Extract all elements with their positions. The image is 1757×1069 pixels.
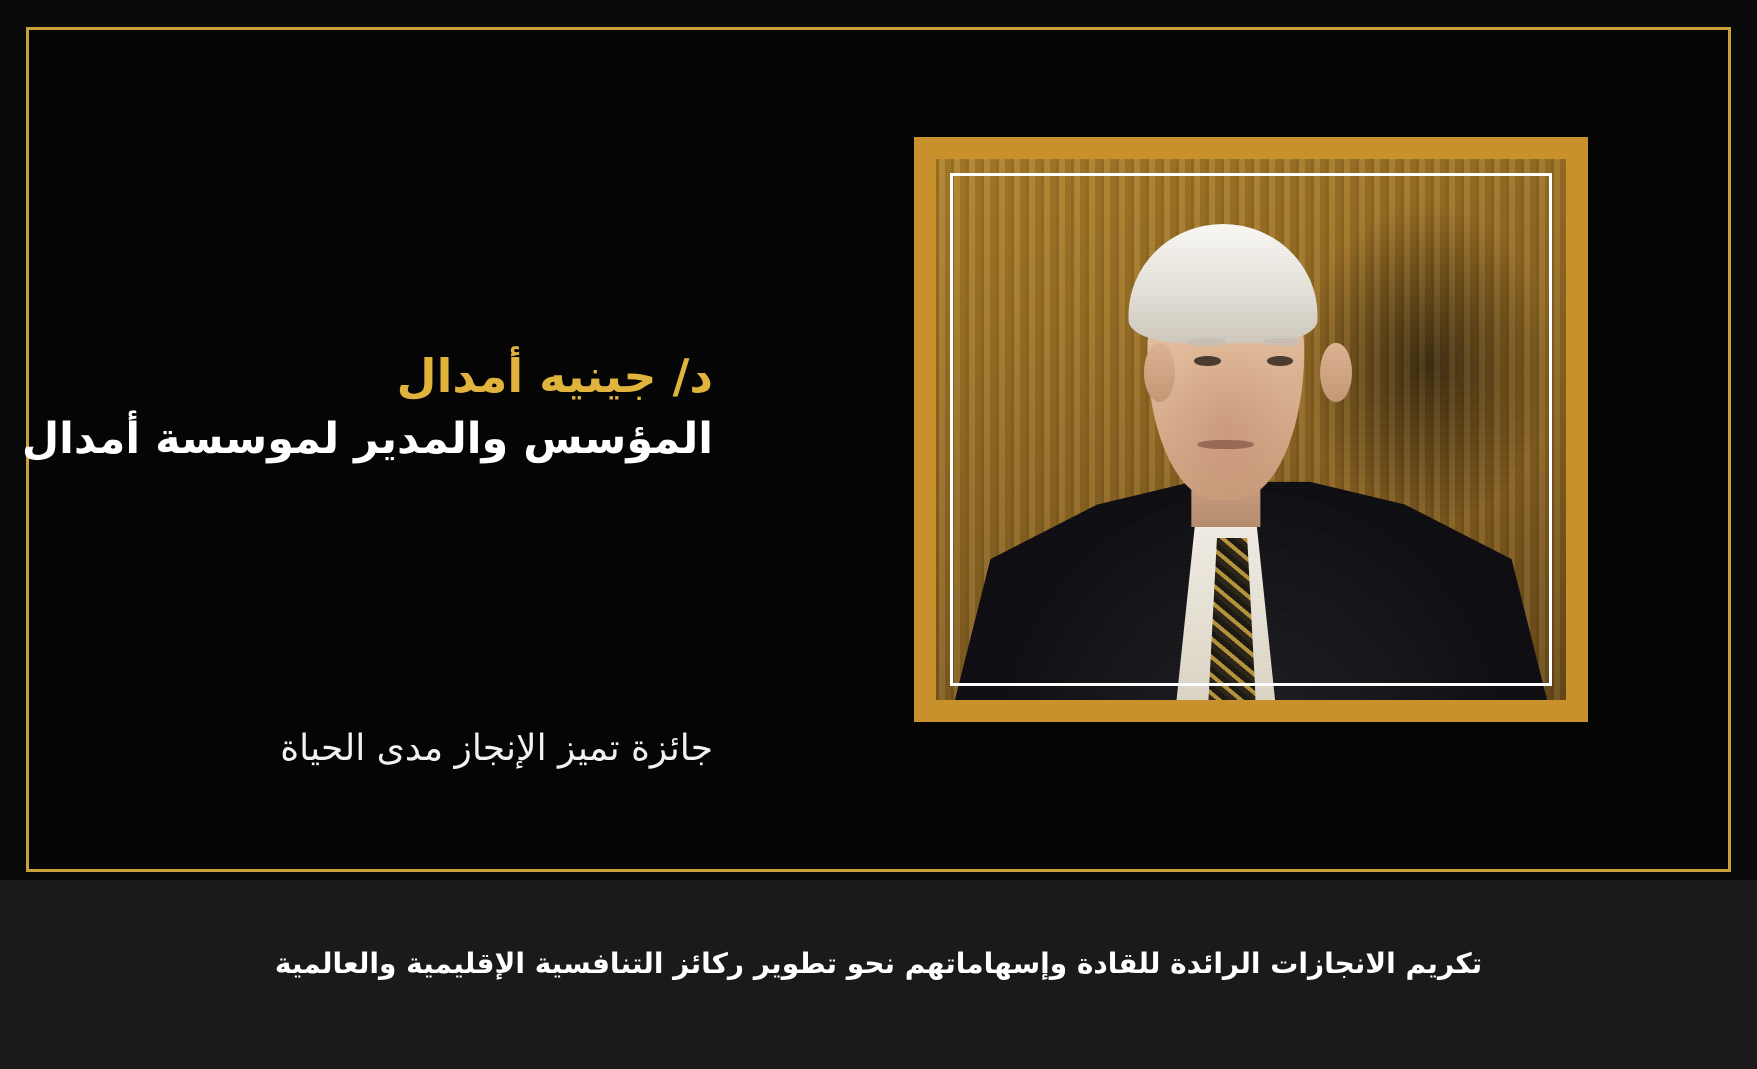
portrait-inner-frame xyxy=(936,159,1566,700)
footer-strip: تكريم الانجازات الرائدة للقادة وإسهاماته… xyxy=(0,880,1757,1069)
portrait-mouth xyxy=(1197,440,1254,449)
portrait-hair xyxy=(1128,224,1317,343)
portrait-ear-right xyxy=(1320,343,1352,403)
honoree-card: د/ جينيه أمدال المؤسس والمدير لموسسة أمد… xyxy=(26,27,1731,872)
portrait-frame xyxy=(914,137,1588,722)
honoree-role: المؤسس والمدير لموسسة أمدال xyxy=(89,413,713,467)
portrait-brow-right xyxy=(1264,338,1302,347)
footer-caption: تكريم الانجازات الرائدة للقادة وإسهاماته… xyxy=(0,944,1757,985)
award-title: جائزة تميز الإنجاز مدى الحياة xyxy=(89,726,713,773)
honoree-name: د/ جينيه أمدال xyxy=(89,348,713,406)
award-slide: د/ جينيه أمدال المؤسس والمدير لموسسة أمد… xyxy=(0,0,1757,1069)
portrait-brow-left xyxy=(1188,338,1226,347)
honoree-text-block: د/ جينيه أمدال المؤسس والمدير لموسسة أمد… xyxy=(89,30,713,869)
portrait-photo xyxy=(936,159,1566,700)
